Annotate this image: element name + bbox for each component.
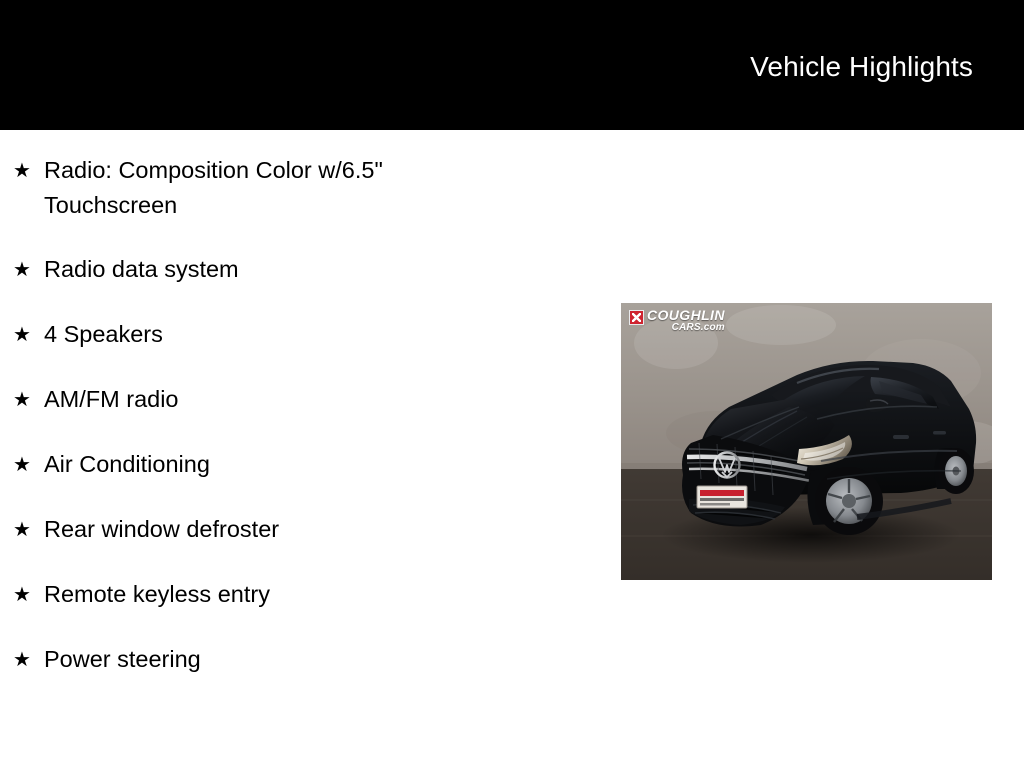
header-band: Vehicle Highlights: [0, 0, 1024, 130]
list-item: ★ 4 Speakers: [0, 317, 560, 353]
list-item: ★ Power steering: [0, 642, 560, 678]
star-icon: ★: [13, 578, 31, 613]
list-item-label: Radio data system: [44, 252, 484, 287]
vehicle-highlights-list: ★ Radio: Composition Color w/6.5" Touchs…: [0, 131, 560, 707]
star-icon: ★: [13, 154, 31, 189]
star-icon: ★: [13, 318, 31, 353]
star-icon: ★: [13, 253, 31, 288]
list-item-label: AM/FM radio: [44, 382, 484, 417]
list-item-label: 4 Speakers: [44, 317, 484, 352]
list-item-label: Power steering: [44, 642, 484, 677]
star-icon: ★: [13, 448, 31, 483]
vehicle-photo: COUGHLIN CARS.com: [621, 303, 992, 580]
list-item: ★ Air Conditioning: [0, 447, 560, 483]
list-item-label: Air Conditioning: [44, 447, 484, 482]
list-item: ★ Remote keyless entry: [0, 577, 560, 613]
list-item: ★ Radio data system: [0, 252, 560, 288]
list-item: ★ Rear window defroster: [0, 512, 560, 548]
vehicle-photo-image: [621, 303, 992, 580]
list-item: ★ AM/FM radio: [0, 382, 560, 418]
star-icon: ★: [13, 383, 31, 418]
list-item-label: Radio: Composition Color w/6.5" Touchscr…: [44, 153, 484, 223]
list-item: ★ Radio: Composition Color w/6.5" Touchs…: [0, 153, 560, 223]
star-icon: ★: [13, 643, 31, 678]
list-item-label: Remote keyless entry: [44, 577, 484, 612]
star-icon: ★: [13, 513, 31, 548]
page-title: Vehicle Highlights: [750, 50, 973, 84]
list-item-label: Rear window defroster: [44, 512, 484, 547]
